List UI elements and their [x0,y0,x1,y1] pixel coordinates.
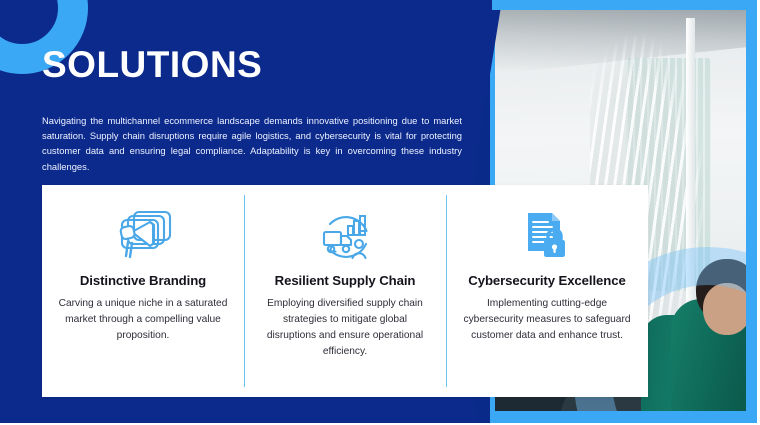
feature-body: Implementing cutting-edge cybersecurity … [462,296,632,344]
feature-title: Cybersecurity Excellence [468,273,625,288]
feature-column-branding[interactable]: Distinctive Branding Carving a unique ni… [42,185,244,397]
supply-chain-truck-icon [314,205,376,267]
intro-paragraph: Navigating the multichannel ecommerce la… [42,113,462,174]
feature-title: Resilient Supply Chain [275,273,416,288]
feature-column-cybersecurity[interactable]: Cybersecurity Excellence Implementing cu… [446,185,648,397]
feature-title: Distinctive Branding [80,273,206,288]
feature-card-container: Distinctive Branding Carving a unique ni… [42,185,648,397]
megaphone-icon [112,205,174,267]
feature-body: Carving a unique niche in a saturated ma… [58,296,228,344]
feature-body: Employing diversified supply chain strat… [260,296,430,360]
document-lock-icon [518,205,576,267]
page-title: SOLUTIONS [42,46,262,83]
slide-root: SOLUTIONS Navigating the multichannel ec… [0,0,760,425]
photo-person-3-face [703,283,746,335]
feature-column-supply-chain[interactable]: Resilient Supply Chain Employing diversi… [244,185,446,397]
edge-strip-top [492,0,760,10]
